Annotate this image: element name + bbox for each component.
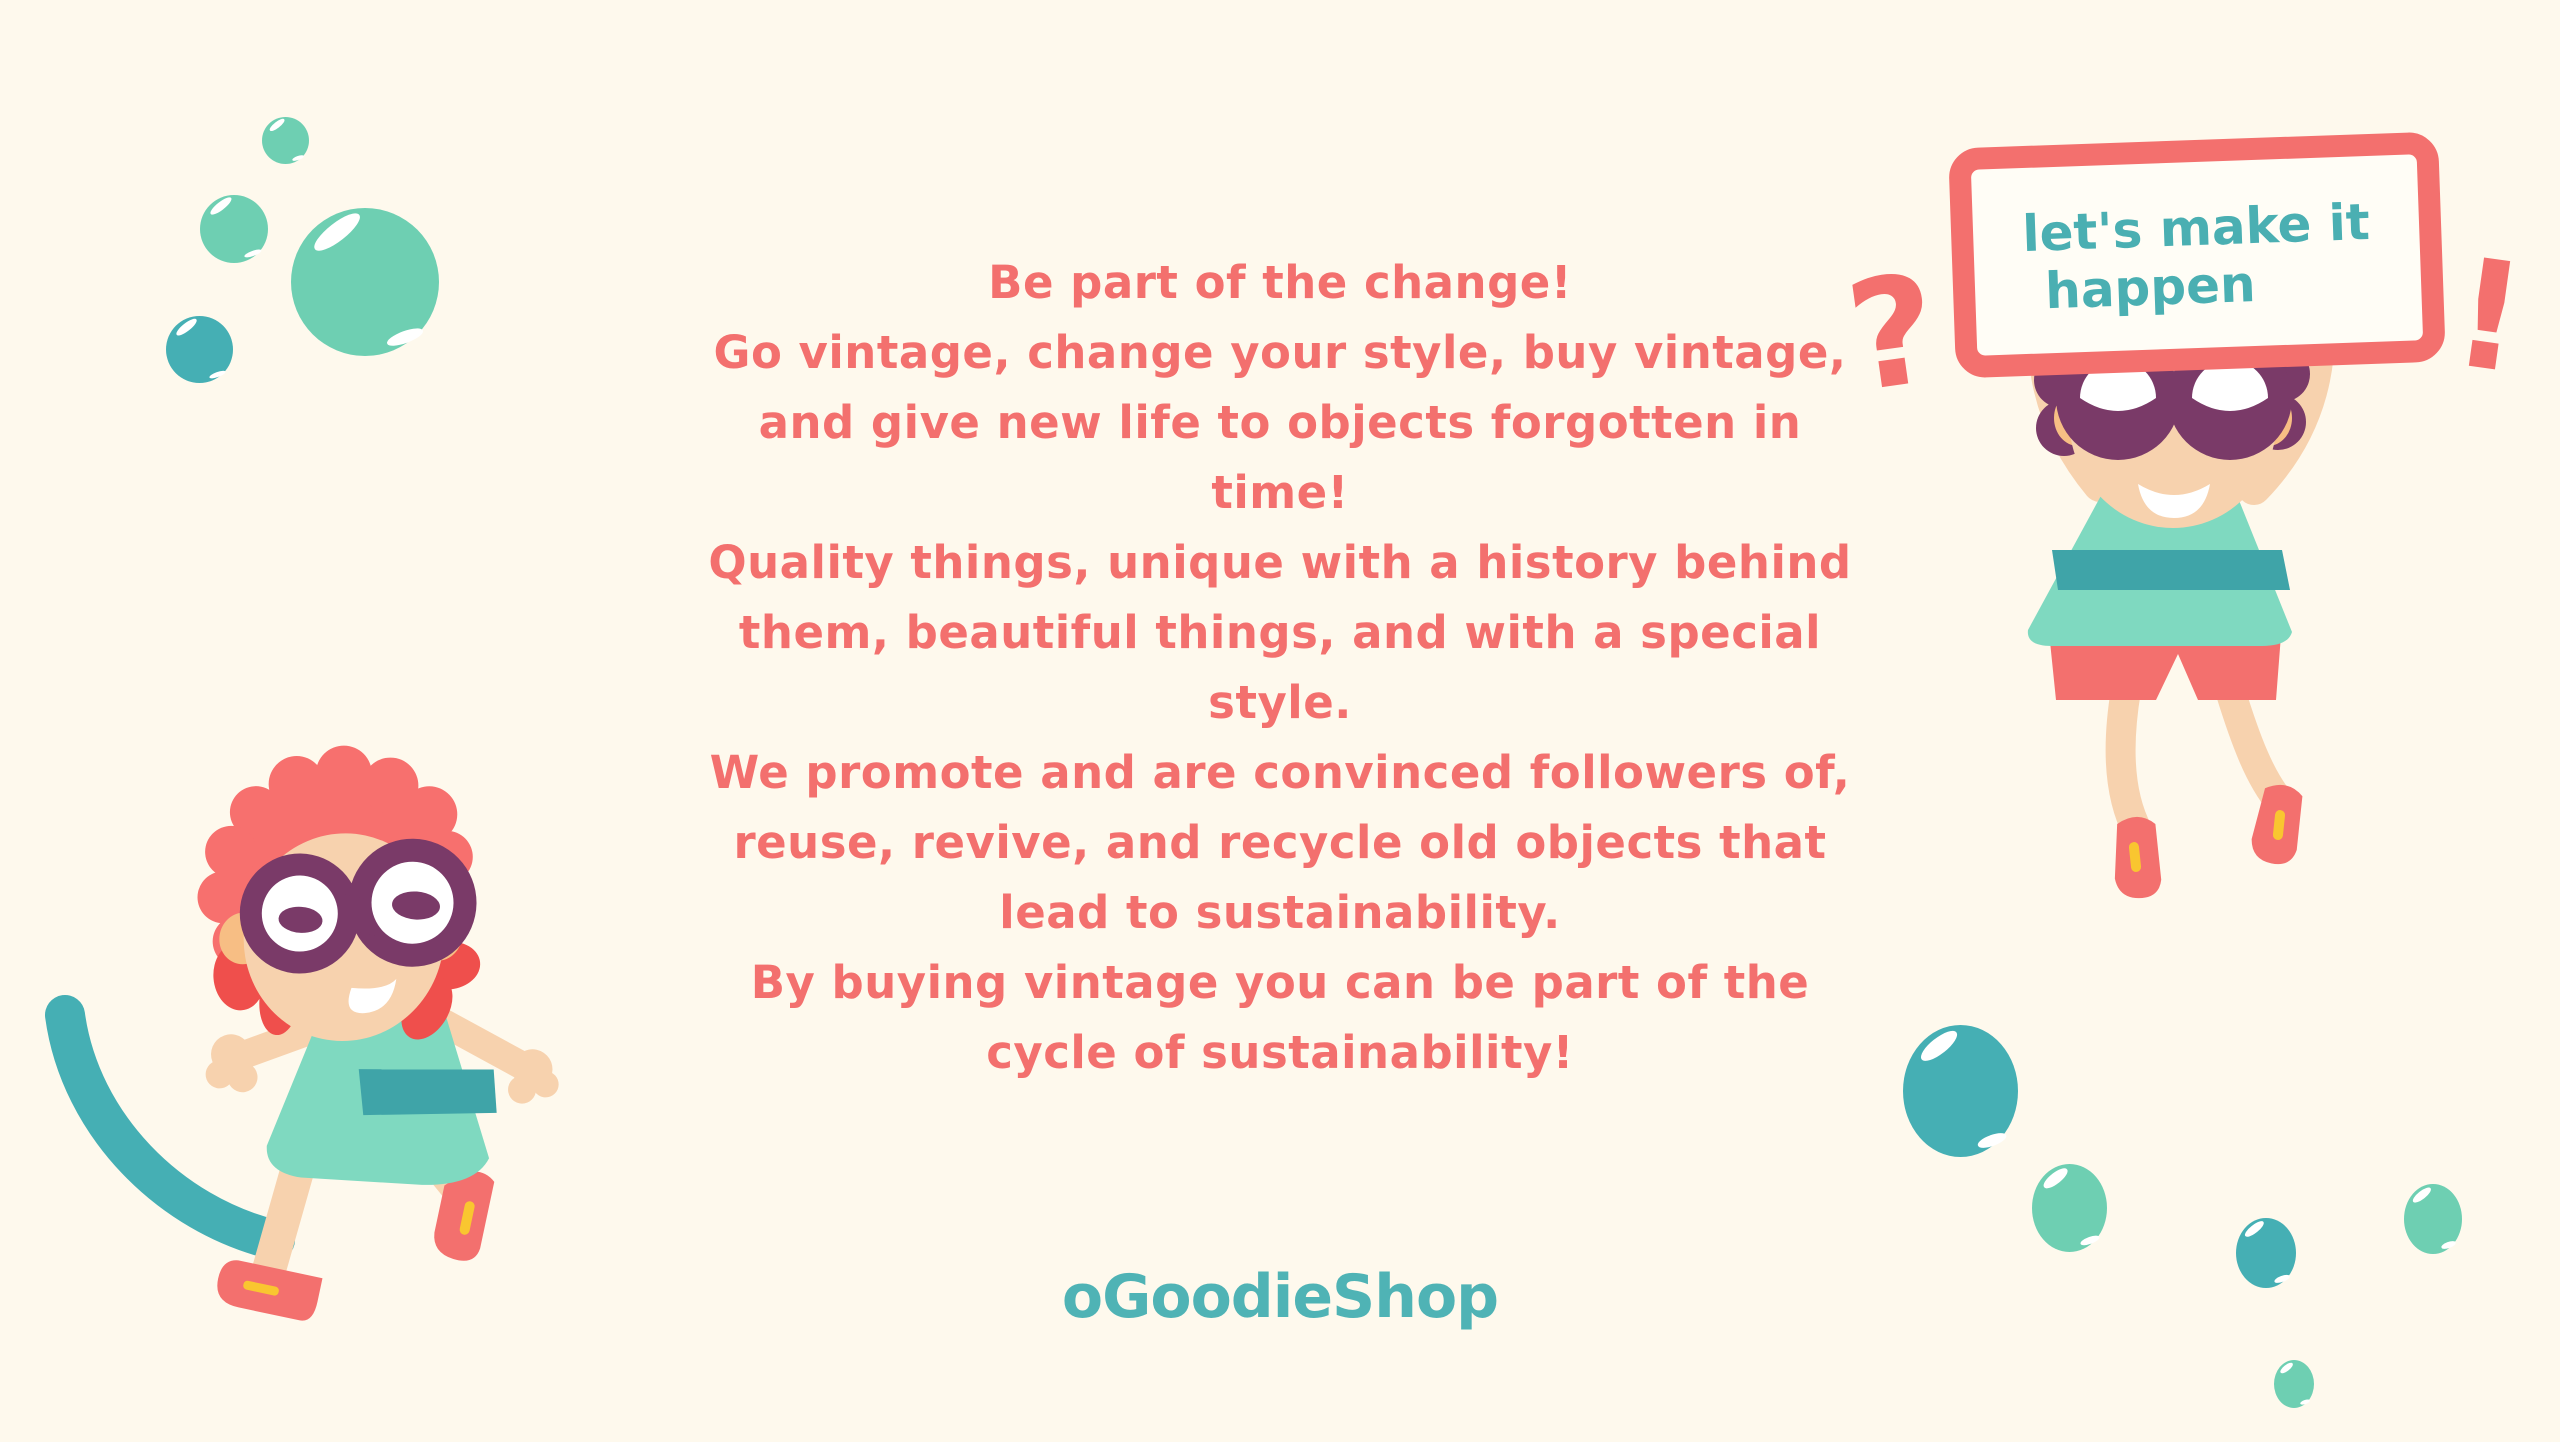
sign-inner: let's make it happen <box>1971 154 2423 355</box>
message-line: and give new life to objects forgotten i… <box>680 388 1880 458</box>
bubble-highlight-icon <box>309 207 364 256</box>
bubble-top-mid-mint <box>262 117 309 164</box>
bubble-br-mint-3 <box>2274 1360 2314 1408</box>
bubble-highlight-icon <box>2299 1398 2310 1405</box>
bubble-highlight-icon <box>2441 1240 2457 1250</box>
boy-left-leg <box>2121 690 2138 832</box>
bubble-br-mint-1 <box>2032 1164 2107 1252</box>
bubble-highlight-icon <box>2279 1361 2295 1375</box>
brand-logo: oGoodieShop <box>0 1262 2560 1332</box>
bubble-left-dark-lower <box>166 316 233 383</box>
protest-sign: let's make it happen <box>1948 132 2446 379</box>
bubble-large-mint <box>291 208 439 356</box>
message-line: lead to sustainability. <box>680 878 1880 948</box>
message-line: them, beautiful things, and with a speci… <box>680 598 1880 668</box>
boy-right-leg <box>2230 690 2280 802</box>
message-line: We promote and are convinced followers o… <box>680 738 1880 808</box>
bubble-highlight-icon <box>2041 1165 2070 1191</box>
message-block: Be part of the change! Go vintage, chang… <box>680 248 1880 1088</box>
bubble-highlight-icon <box>209 369 227 380</box>
sign-line-1: let's make it <box>2021 195 2370 260</box>
bubble-highlight-icon <box>174 316 199 338</box>
brand-name: oGoodieShop <box>1062 1262 1498 1332</box>
bubble-br-large-dark <box>1903 1025 2018 1157</box>
boy-left-shoe <box>2109 815 2163 900</box>
exclamation-mark-icon: ! <box>2442 258 2532 416</box>
bubble-highlight-icon <box>2411 1185 2434 1205</box>
bubble-highlight-icon <box>243 249 261 260</box>
message-line: style. <box>680 668 1880 738</box>
message-line: Be part of the change! <box>680 248 1880 318</box>
bubble-highlight-icon <box>2079 1234 2100 1247</box>
message-line: By buying vintage you can be part of the <box>680 948 1880 1018</box>
bubble-highlight-icon <box>385 325 425 349</box>
message-line: Quality things, unique with a history be… <box>680 528 1880 598</box>
message-line: Go vintage, change your style, buy vinta… <box>680 318 1880 388</box>
message-line: time! <box>680 458 1880 528</box>
bubble-highlight-icon <box>208 195 233 217</box>
bubble-highlight-icon <box>292 154 305 162</box>
bubble-highlight-icon <box>1917 1026 1961 1065</box>
bubble-br-mint-2 <box>2404 1184 2462 1254</box>
message-line: reuse, revive, and recycle old objects t… <box>680 808 1880 878</box>
poster-canvas: let's make it happen ? ! Be part of the … <box>0 0 2560 1442</box>
sign-line-2: happen <box>2044 258 2256 318</box>
bubble-highlight-icon <box>2243 1219 2266 1240</box>
message-line: cycle of sustainability! <box>680 1018 1880 1088</box>
bubble-upper-mint <box>200 195 268 263</box>
bubble-highlight-icon <box>268 117 286 132</box>
bubble-highlight-icon <box>1976 1130 2008 1150</box>
